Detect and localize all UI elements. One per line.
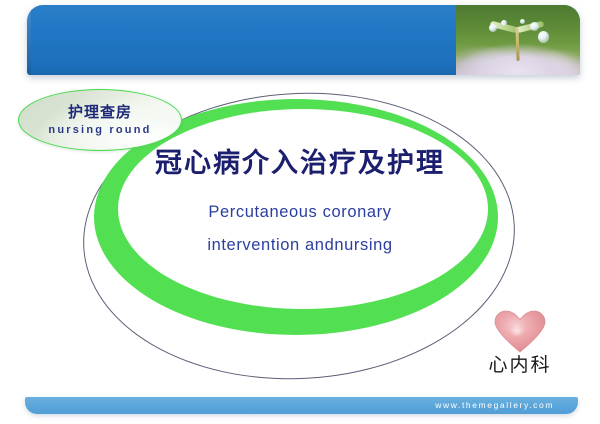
department-label: 心内科 [465,355,575,376]
dew-drop-icon [530,22,539,31]
badge-title-cn: 护理查房 [68,104,132,121]
dew-drop-icon [501,20,507,26]
subtitle-line-2: intervention andnursing [100,229,500,262]
dew-drop-icon [538,31,549,43]
header-banner [27,5,580,75]
seedling-photo [456,5,580,75]
title-block: 冠心病介入治疗及护理 Percutaneous coronary interve… [100,148,500,262]
footer-url[interactable]: www.themegallery.com [435,399,554,412]
heart-icon [494,310,546,354]
subtitle-block: Percutaneous coronary intervention andnu… [100,196,500,262]
badge-title-en: nursing round [48,124,151,136]
footer-banner: www.themegallery.com [25,397,578,414]
page-title: 冠心病介入治疗及护理 [100,148,500,180]
subtitle-line-1: Percutaneous coronary [100,196,500,229]
dew-drop-icon [489,24,497,32]
dew-drop-icon [520,19,525,24]
nursing-round-badge[interactable]: 护理查房 nursing round [18,89,182,151]
presentation-slide: 护理查房 nursing round 冠心病介入治疗及护理 Percutaneo… [0,0,600,424]
department-group: 心内科 [465,310,575,376]
